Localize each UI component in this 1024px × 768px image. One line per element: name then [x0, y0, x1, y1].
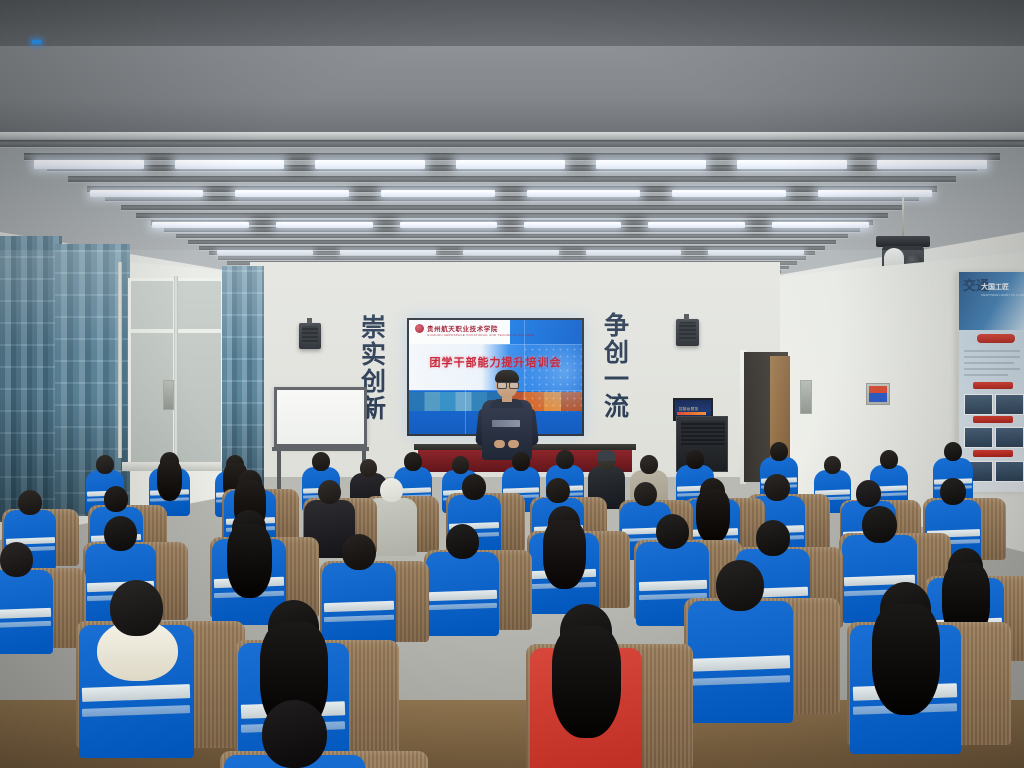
ceiling-slat — [87, 186, 937, 192]
audience-head — [856, 480, 881, 507]
ceiling-light-tube — [235, 190, 349, 197]
ceiling-light-tube — [400, 222, 497, 228]
reflective-stripe — [503, 487, 539, 493]
audience-head — [940, 478, 966, 505]
ceiling-light-tube — [175, 160, 285, 169]
audience-head — [110, 580, 163, 636]
long-hair — [696, 489, 730, 544]
presenter-hand-right — [508, 440, 519, 448]
ceiling-light-tube — [737, 160, 847, 169]
long-hair — [552, 626, 621, 738]
audience-head — [764, 474, 790, 501]
ceiling-light-tube — [818, 190, 932, 197]
presenter — [476, 372, 538, 464]
audience-head — [18, 490, 42, 515]
cap-icon — [597, 450, 616, 460]
ceiling-light-tube — [527, 190, 641, 197]
audience-head — [404, 452, 422, 471]
wall-panel-right — [800, 380, 812, 414]
ceiling-light-tube — [315, 160, 425, 169]
ceiling-light-tube — [34, 160, 144, 169]
ceiling-lip — [0, 132, 1024, 139]
poster-subline: CRAFTSMAN SPIRIT OF A GREAT POWER — [981, 293, 1024, 297]
ceiling — [0, 0, 1024, 300]
audience-head — [512, 452, 530, 471]
audience-head — [880, 450, 898, 469]
wall-conduit-2 — [174, 276, 178, 460]
ceiling-light-tube — [276, 222, 373, 228]
audience-head — [262, 700, 327, 768]
ceiling-light-tube — [524, 222, 621, 228]
wall-speaker-right — [676, 319, 699, 346]
emergency-sign-box — [866, 383, 890, 405]
audience-head — [104, 486, 128, 512]
ceiling-light-tube — [456, 160, 566, 169]
ceiling-slat — [218, 256, 806, 260]
ceiling-light-tube — [340, 250, 436, 255]
ceiling-light-tube — [648, 222, 745, 228]
audience-head — [104, 516, 137, 551]
ceiling-top-slab — [0, 0, 1024, 46]
audience-head — [686, 450, 704, 469]
poster-photo-4 — [995, 427, 1024, 448]
long-hair — [872, 604, 940, 715]
ceiling-light-tube — [586, 250, 682, 255]
poster-section-2 — [973, 416, 1013, 423]
whiteboard-tray — [272, 447, 369, 451]
whiteboard-leg-left — [277, 451, 281, 493]
glasses-lens-left — [497, 382, 507, 389]
ceiling-light-tube — [463, 250, 559, 255]
poster-photo-3 — [964, 427, 993, 448]
ceiling-slat — [121, 205, 903, 210]
ceiling-light-tube — [90, 190, 204, 197]
wall-slogan-right: 争创一流 — [601, 312, 628, 420]
audience-head — [342, 534, 376, 570]
audience-head — [656, 514, 689, 549]
speaker-bracket-left — [307, 318, 312, 324]
presenter-hand-left — [494, 440, 505, 448]
audience-head — [380, 478, 403, 502]
glasses-lens-right — [509, 382, 519, 389]
audience-head — [824, 456, 841, 474]
camera-suspension-wire — [902, 196, 904, 238]
audience-head — [716, 560, 764, 611]
audience-head — [862, 506, 897, 543]
ceiling-slat — [151, 220, 874, 225]
ceiling-slat — [164, 227, 860, 232]
poster-section-1 — [973, 382, 1013, 389]
presenter-hoodie-logo — [492, 420, 520, 427]
ceiling-slat — [0, 140, 1024, 147]
curtain-panel-1 — [0, 236, 62, 522]
audience-head — [312, 452, 330, 471]
poster-photo-2 — [995, 394, 1024, 415]
ceiling-light-tube — [877, 160, 987, 169]
ceiling-slat — [24, 153, 999, 160]
audience-head — [546, 478, 570, 503]
audience-head — [634, 482, 657, 506]
rack-power-led-icon — [32, 40, 41, 44]
ceiling-light-tube — [381, 190, 495, 197]
long-hair — [543, 520, 586, 590]
audience-head — [756, 520, 790, 556]
ceiling-light-tube — [772, 222, 869, 228]
ceiling-light-tube — [596, 160, 706, 169]
audience-head — [770, 442, 788, 461]
ceiling-light-tube — [217, 250, 313, 255]
long-hair — [157, 460, 183, 501]
monitor-label: 控制台预览 — [679, 407, 699, 412]
ceiling-light-tube — [152, 222, 249, 228]
ceiling-slat — [188, 240, 836, 244]
wall-socket-plate — [163, 380, 174, 410]
audience-head — [452, 456, 469, 474]
ceiling-light-tube — [708, 250, 804, 255]
long-hair — [227, 524, 273, 598]
audience-head — [462, 474, 486, 500]
poster-badge-1 — [977, 334, 1015, 343]
audience-head — [360, 459, 377, 477]
audience-head — [640, 455, 658, 474]
ceiling-band — [0, 46, 1024, 134]
presenter-hoodie — [482, 400, 532, 460]
poster-photo-6 — [995, 461, 1024, 482]
ceiling-slat — [68, 176, 957, 182]
audience-head — [556, 450, 574, 469]
speaker-bracket-right — [684, 314, 689, 320]
poster-section-3 — [973, 450, 1013, 457]
ceiling-slat — [105, 196, 920, 201]
audience-head — [96, 455, 114, 474]
audience-head — [446, 524, 479, 559]
poster-headline: 大国工匠 — [981, 282, 1009, 292]
poster-photo-1 — [964, 394, 993, 415]
whiteboard[interactable] — [274, 387, 367, 447]
wall-speaker-left — [299, 323, 321, 349]
ceiling-slat — [176, 234, 847, 238]
audience-head — [318, 480, 341, 504]
lecture-hall-photo: 崇实创新 争创一流 贵州航天职业技术学院 GUIZHOU AEROSPACE V… — [0, 0, 1024, 768]
audience-head — [0, 542, 33, 577]
ceiling-light-tube — [672, 190, 786, 197]
ceiling-slat — [136, 213, 887, 218]
wall-conduit-1 — [118, 262, 122, 458]
